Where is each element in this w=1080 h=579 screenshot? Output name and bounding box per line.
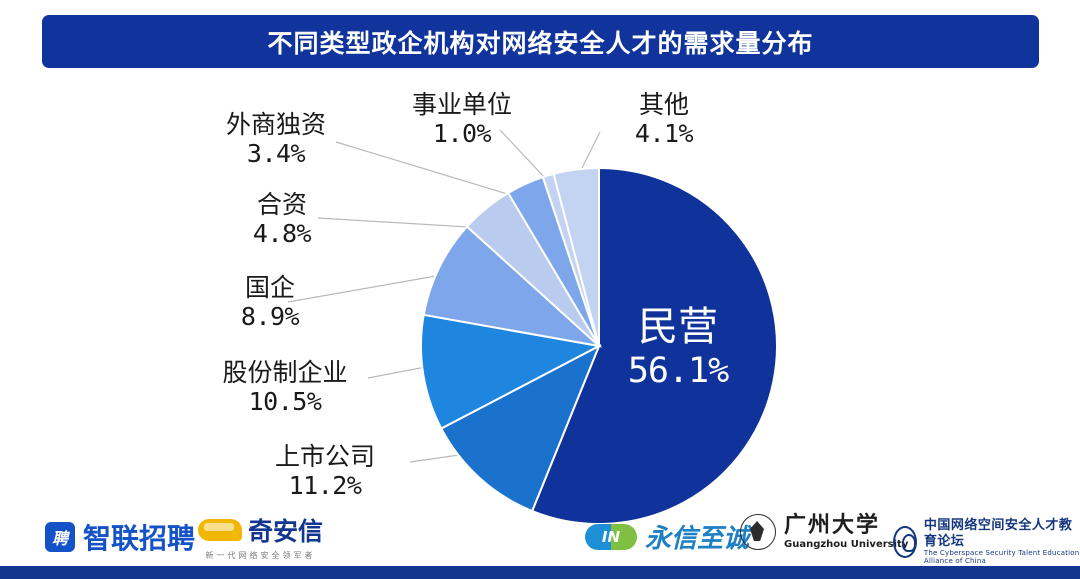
pie-label-shangshigongsi: 上市公司 11.2%: [232, 442, 418, 500]
gzu-crest-icon: [740, 514, 776, 550]
pie-label-gufenzhiqiye: 股份制企业 10.5%: [190, 358, 380, 416]
pie-label-hezi-name: 合资: [208, 190, 356, 219]
pie-label-qita: 其他 4.1%: [600, 90, 728, 148]
logo-alliance-tagline: The Cyberspace Security Talent Education…: [924, 549, 1080, 565]
logo-qianxin: 奇安信 新一代网络安全领军者: [198, 512, 323, 561]
logo-gzu-name: 广州大学: [784, 514, 908, 538]
logo-guangzhou-university: 广州大学 Guangzhou University: [740, 514, 908, 550]
pie-chart: 民营 56.1% 外商独资 3.4% 合资 4.8% 国企 8.9% 股份制企业…: [0, 70, 1080, 510]
logo-qianxin-name: 奇安信: [248, 512, 323, 548]
yongxin-mark-icon: IN: [585, 524, 637, 550]
pie-label-guoqi-pct: 8.9%: [196, 302, 344, 331]
logo-cyberspace-alliance: 中国网络空间安全人才教育论坛 The Cyberspace Security T…: [893, 518, 1080, 565]
footer-logo-bar: 聘 智联招聘 奇安信 新一代网络安全领军者 IN 永信至诚 广州大学 Guang…: [0, 512, 1080, 562]
pie-label-minying: 民营 56.1%: [598, 305, 758, 392]
logo-yongxin-zhicheng: IN 永信至诚: [585, 518, 749, 555]
pie-label-shiyedanwei: 事业单位 1.0%: [382, 90, 542, 148]
page-title: 不同类型政企机构对网络安全人才的需求量分布: [267, 24, 813, 60]
pie-label-hezi-pct: 4.8%: [208, 219, 356, 248]
logo-zhilian-zhaopin: 聘 智联招聘: [45, 517, 195, 557]
pie-label-gufenzhiqiye-pct: 10.5%: [190, 387, 380, 416]
title-banner: 不同类型政企机构对网络安全人才的需求量分布: [42, 15, 1039, 68]
pie-label-shiyedanwei-pct: 1.0%: [382, 119, 542, 148]
pie-label-waishangduzi-pct: 3.4%: [196, 139, 356, 168]
logo-alliance-name: 中国网络空间安全人才教育论坛: [924, 518, 1080, 549]
qianxin-mark-icon: [198, 519, 242, 541]
pie-label-shangshigongsi-name: 上市公司: [232, 442, 418, 471]
alliance-seal-icon: [893, 526, 917, 558]
logo-qianxin-tagline: 新一代网络安全领军者: [206, 550, 316, 561]
pie-graphic: 民营 56.1%: [418, 165, 780, 527]
pie-label-minying-pct: 56.1%: [598, 350, 758, 392]
slide-root: 不同类型政企机构对网络安全人才的需求量分布: [0, 0, 1080, 579]
pie-label-waishangduzi: 外商独资 3.4%: [196, 110, 356, 168]
alliance-text-block: 中国网络空间安全人才教育论坛 The Cyberspace Security T…: [924, 518, 1080, 565]
pie-label-waishangduzi-name: 外商独资: [196, 110, 356, 139]
zhilian-mark-icon: 聘: [45, 522, 75, 552]
pie-label-shiyedanwei-name: 事业单位: [382, 90, 542, 119]
qianxin-row: 奇安信: [198, 512, 323, 548]
pie-label-gufenzhiqiye-name: 股份制企业: [190, 358, 380, 387]
pie-label-guoqi: 国企 8.9%: [196, 273, 344, 331]
gzu-text-block: 广州大学 Guangzhou University: [784, 514, 908, 549]
logo-gzu-tagline: Guangzhou University: [784, 539, 908, 550]
pie-label-hezi: 合资 4.8%: [208, 190, 356, 248]
pie-label-guoqi-name: 国企: [196, 273, 344, 302]
logo-yongxin-name: 永信至诚: [645, 518, 749, 555]
pie-label-shangshigongsi-pct: 11.2%: [232, 471, 418, 500]
pie-label-qita-pct: 4.1%: [600, 119, 728, 148]
logo-zhilian-name: 智联招聘: [83, 517, 195, 557]
pie-label-qita-name: 其他: [600, 90, 728, 119]
footer-accent-strip: [0, 566, 1080, 579]
pie-label-minying-name: 民营: [598, 305, 758, 350]
